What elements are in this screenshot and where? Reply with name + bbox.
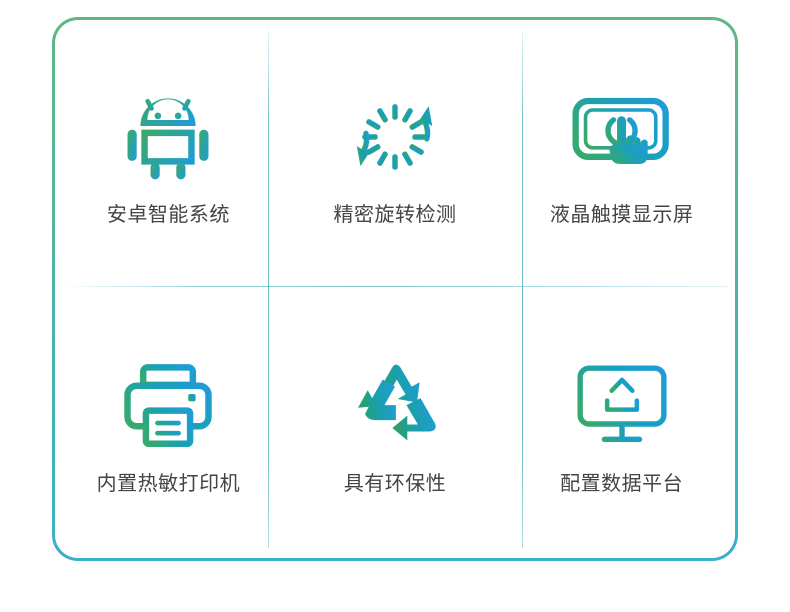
feature-label: 液晶触摸显示屏 xyxy=(550,205,694,225)
android-robot-icon xyxy=(112,85,224,189)
feature-cell-printer[interactable]: 内置热敏打印机 xyxy=(55,289,282,558)
thermal-printer-icon xyxy=(112,354,224,458)
feature-cell-rotation[interactable]: 精密旋转检测 xyxy=(282,20,509,289)
feature-label: 配置数据平台 xyxy=(560,474,683,494)
touchscreen-display-icon xyxy=(566,85,678,189)
feature-label: 精密旋转检测 xyxy=(333,205,456,225)
feature-cell-android[interactable]: 安卓智能系统 xyxy=(55,20,282,289)
feature-label: 内置热敏打印机 xyxy=(97,474,241,494)
rotation-detection-icon xyxy=(339,85,451,189)
feature-cell-touchscreen[interactable]: 液晶触摸显示屏 xyxy=(508,20,735,289)
monitor-upload-icon xyxy=(566,354,678,458)
feature-grid: 安卓智能系统 xyxy=(55,20,735,558)
feature-label: 具有环保性 xyxy=(344,474,447,494)
feature-cell-recycle[interactable]: 具有环保性 xyxy=(282,289,509,558)
feature-panel: 安卓智能系统 xyxy=(52,17,738,561)
recycle-icon xyxy=(339,354,451,458)
feature-cell-data-platform[interactable]: 配置数据平台 xyxy=(508,289,735,558)
feature-label: 安卓智能系统 xyxy=(107,205,230,225)
